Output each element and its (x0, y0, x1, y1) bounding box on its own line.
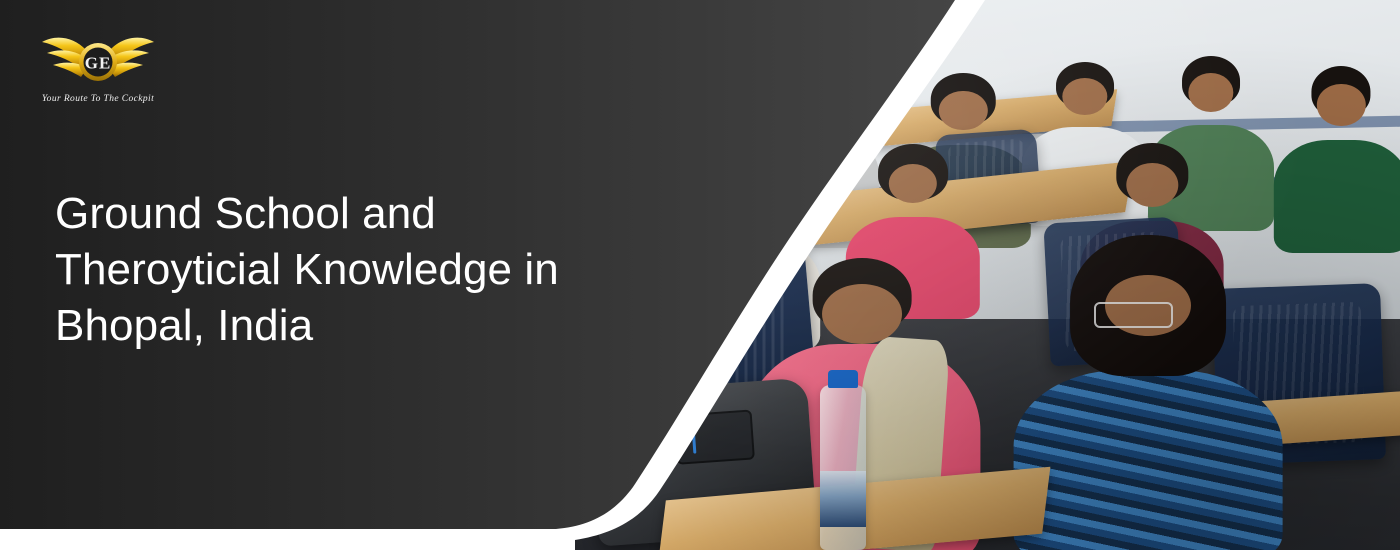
water-bottle (820, 385, 865, 550)
student-figure (1274, 77, 1400, 253)
logo-monogram: GE (85, 54, 112, 73)
eyeglasses (1094, 302, 1173, 328)
bottle-label (820, 471, 865, 527)
bottle-cap (828, 370, 859, 388)
student-figure (1014, 253, 1283, 550)
ge-winged-logo[interactable]: GE Your Route To The Cockpit (38, 28, 158, 106)
page-title: Ground School and Theroyticial Knowledge… (55, 186, 615, 354)
hero-banner: GE Your Route To The Cockpit Ground Scho… (0, 0, 1400, 550)
classroom-students-photo (560, 0, 1400, 550)
logo-tagline: Your Route To The Cockpit (38, 94, 158, 104)
